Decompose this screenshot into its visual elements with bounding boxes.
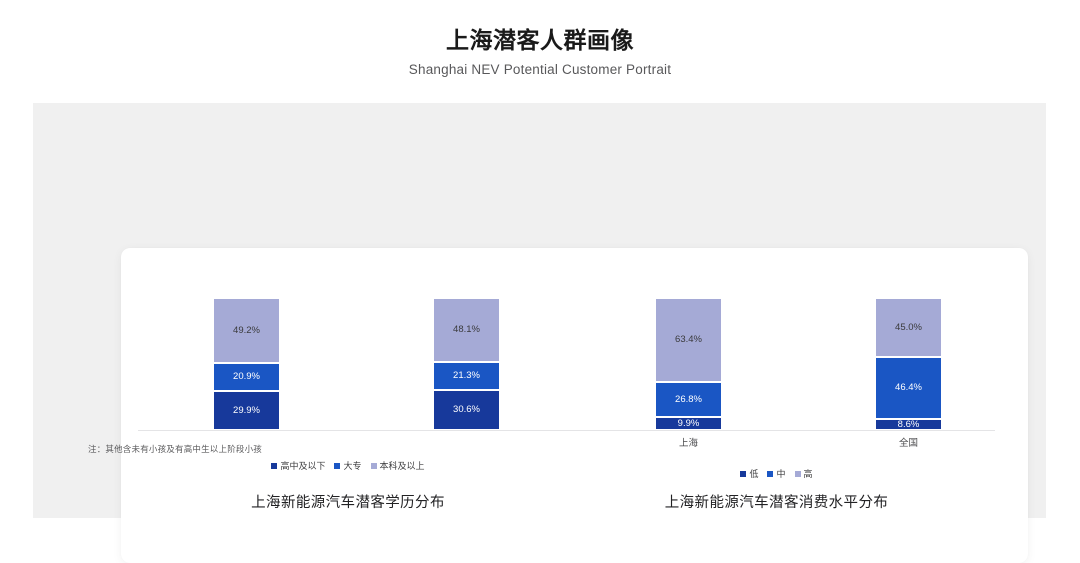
chart-consumption-axis-line [558, 430, 995, 431]
chart-consumption-bar-nationwide[interactable]: 45.0% 46.4% 8.6% [876, 298, 941, 430]
bar-segment-high: 49.2% [214, 298, 279, 363]
legend-swatch-icon [740, 471, 746, 477]
legend-item-bachelor-and-above[interactable]: 本科及以上 [371, 459, 425, 472]
legend-swatch-icon [271, 463, 277, 469]
chart-consumption-category-nationwide: 全国 [876, 435, 941, 449]
chart-education-legend: 高中及以下 大专 本科及以上 [138, 459, 558, 472]
charts-row: 49.2% 20.9% 29.9% 48.1% 21.3% 30.6% 高中及以… [121, 248, 1028, 563]
bar-segment-mid: 21.3% [434, 362, 499, 390]
chart-consumption-caption: 上海新能源汽车潜客消费水平分布 [558, 491, 995, 512]
legend-swatch-icon [795, 471, 801, 477]
bar-segment-low: 30.6% [434, 390, 499, 430]
legend-label: 本科及以上 [380, 459, 425, 472]
bar-segment-high: 63.4% [656, 298, 721, 382]
chart-education-caption: 上海新能源汽车潜客学历分布 [138, 491, 558, 512]
legend-label: 高 [804, 467, 813, 480]
legend-item-medium[interactable]: 中 [767, 467, 785, 480]
legend-label: 大专 [343, 459, 361, 472]
bar-segment-mid: 20.9% [214, 363, 279, 391]
legend-item-low[interactable]: 低 [740, 467, 758, 480]
chart-consumption-legend: 低 中 高 [558, 467, 995, 480]
bar-segment-low: 9.9% [656, 417, 721, 430]
bar-segment-mid: 26.8% [656, 382, 721, 417]
chart-education-axis-line [138, 430, 558, 431]
bar-segment-low: 29.9% [214, 391, 279, 430]
bar-segment-high: 45.0% [876, 298, 941, 357]
legend-swatch-icon [767, 471, 773, 477]
charts-card: 49.2% 20.9% 29.9% 48.1% 21.3% 30.6% 高中及以… [121, 248, 1028, 563]
legend-item-junior-college[interactable]: 大专 [334, 459, 361, 472]
chart-education-bar-1[interactable]: 49.2% 20.9% 29.9% [214, 298, 279, 430]
chart-consumption-bar-shanghai[interactable]: 63.4% 26.8% 9.9% [656, 298, 721, 430]
chart-consumption-category-shanghai: 上海 [656, 435, 721, 449]
chart-education-distribution: 49.2% 20.9% 29.9% 48.1% 21.3% 30.6% 高中及以… [138, 248, 558, 563]
legend-label: 高中及以下 [280, 459, 325, 472]
content-panel: 49.2% 20.9% 29.9% 48.1% 21.3% 30.6% 高中及以… [33, 103, 1046, 518]
chart-consumption-distribution: 63.4% 26.8% 9.9% 45.0% 46.4% 8.6% 上海 全国 [558, 248, 1008, 563]
legend-label: 低 [749, 467, 758, 480]
bar-segment-high: 48.1% [434, 298, 499, 361]
legend-swatch-icon [371, 463, 377, 469]
legend-swatch-icon [334, 463, 340, 469]
page-subtitle: Shanghai NEV Potential Customer Portrait [0, 62, 1080, 77]
page-title: 上海潜客人群画像 [0, 26, 1080, 55]
bar-segment-low: 8.6% [876, 419, 941, 430]
legend-label: 中 [776, 467, 785, 480]
chart-education-bar-2[interactable]: 48.1% 21.3% 30.6% [434, 298, 499, 430]
bar-segment-mid: 46.4% [876, 357, 941, 418]
footnote: 注：其他含未有小孩及有高中生以上阶段小孩 [88, 443, 262, 455]
chart-education-plot-area: 49.2% 20.9% 29.9% 48.1% 21.3% 30.6% [138, 298, 558, 431]
chart-consumption-plot-area: 63.4% 26.8% 9.9% 45.0% 46.4% 8.6% [558, 298, 1008, 431]
legend-item-high[interactable]: 高 [795, 467, 813, 480]
page-header: 上海潜客人群画像 Shanghai NEV Potential Customer… [0, 0, 1080, 77]
legend-item-high-school-and-below[interactable]: 高中及以下 [271, 459, 325, 472]
